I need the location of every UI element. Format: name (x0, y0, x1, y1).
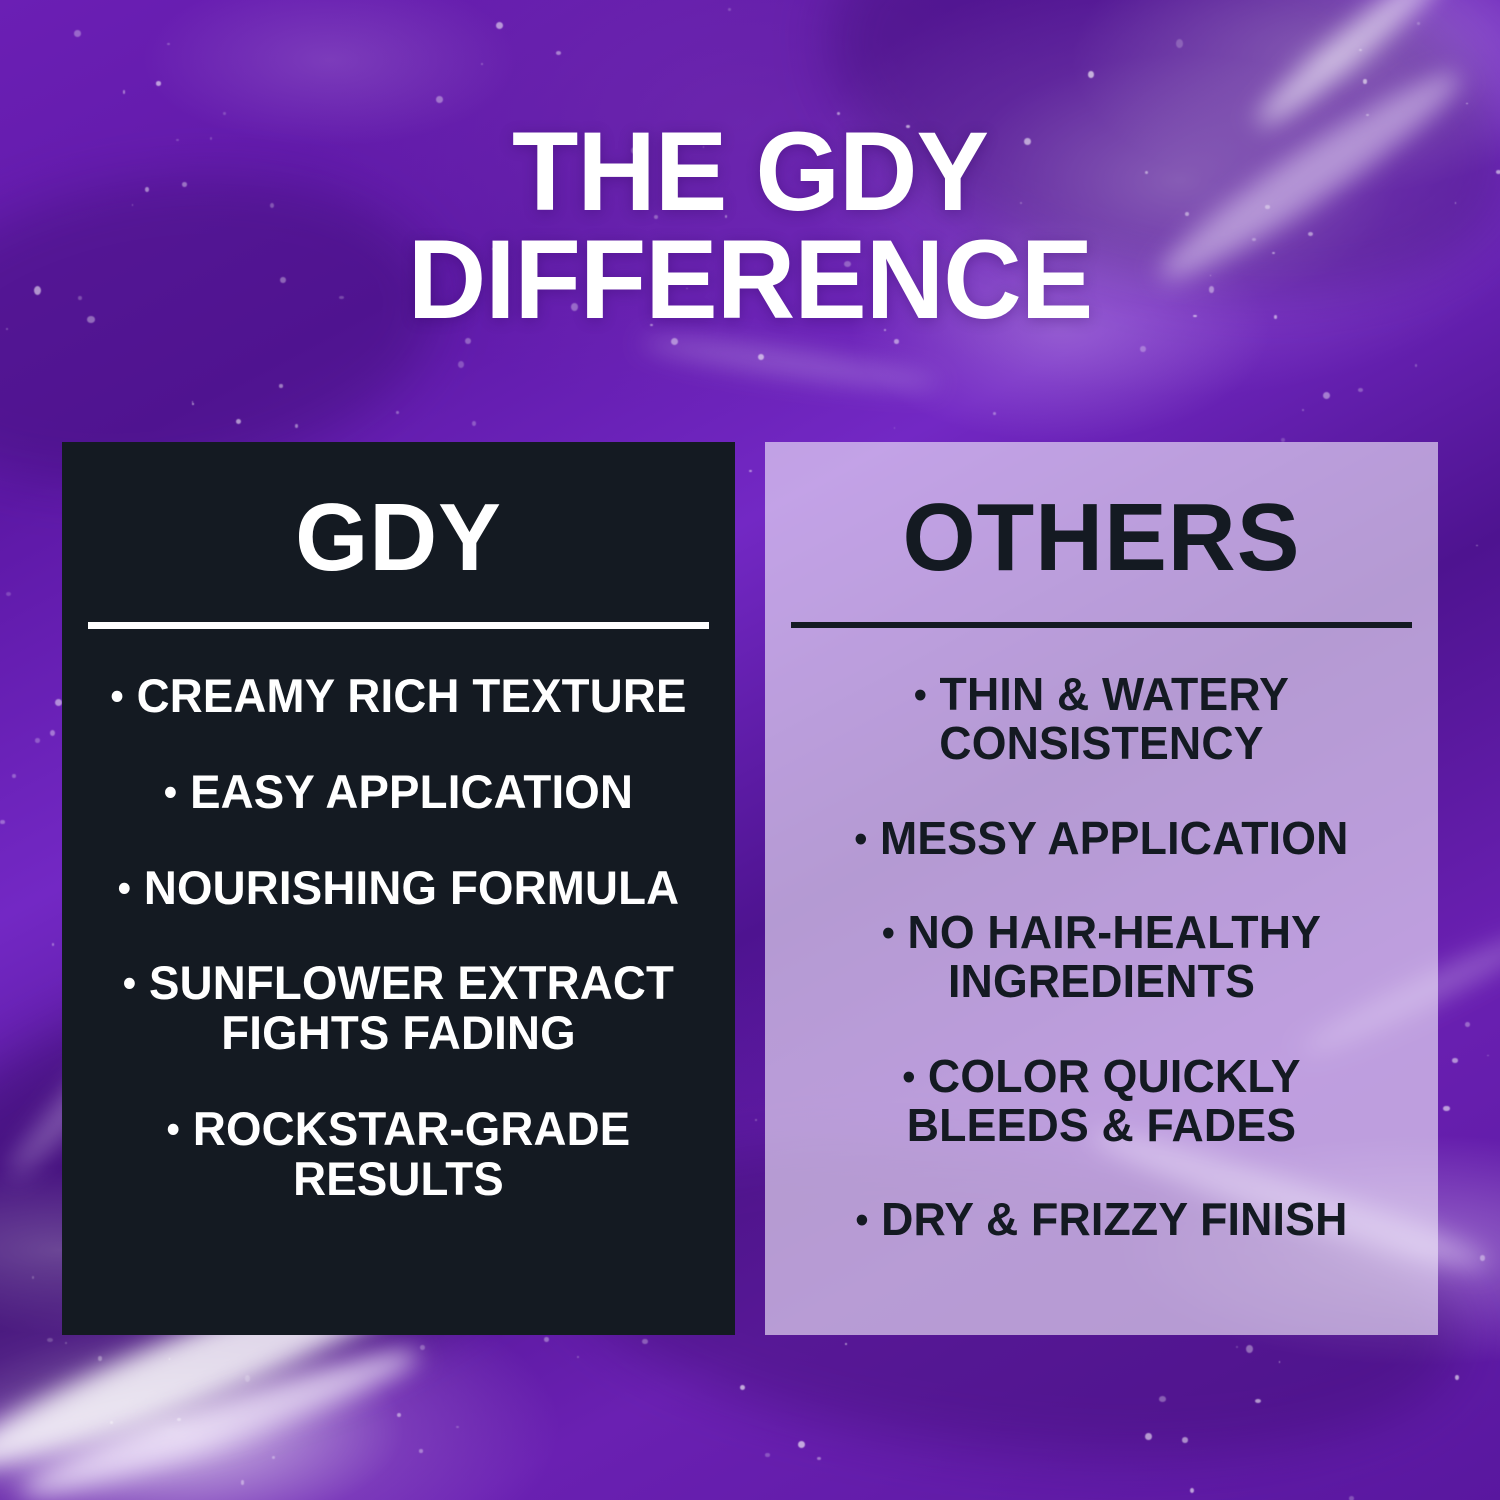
bullet-dot-icon: • (914, 673, 927, 715)
list-item: • NO HAIR-HEALTHY INGREDIENTS (806, 908, 1397, 1006)
panel-title-others: OTHERS (797, 442, 1406, 586)
panel-title-gdy: GDY (94, 442, 703, 586)
promo-graphic: THE GDY DIFFERENCE GDY • CREAMY RICH TEX… (0, 0, 1500, 1500)
list-item: • THIN & WATERY CONSISTENCY (806, 670, 1397, 768)
bullet-dot-icon: • (167, 1108, 180, 1151)
list-item: • NOURISHING FORMULA (103, 863, 694, 913)
list-item: • COLOR QUICKLY BLEEDS & FADES (806, 1052, 1397, 1150)
list-item: • EASY APPLICATION (103, 767, 694, 817)
bullet-dot-icon: • (855, 1199, 868, 1241)
list-item: • CREAMY RICH TEXTURE (103, 671, 694, 721)
bullet-dot-icon: • (118, 867, 131, 910)
bullet-dot-icon: • (854, 817, 867, 859)
comparison-panel-others: OTHERS • THIN & WATERY CONSISTENCY• MESS… (765, 442, 1438, 1335)
panel-divider-rule (88, 622, 709, 629)
benefit-list-gdy: • CREAMY RICH TEXTURE• EASY APPLICATION•… (88, 629, 709, 1204)
list-item: • MESSY APPLICATION (806, 814, 1397, 863)
list-item: • DRY & FRIZZY FINISH (806, 1195, 1397, 1244)
comparison-panel-gdy: GDY • CREAMY RICH TEXTURE• EASY APPLICAT… (62, 442, 735, 1335)
bullet-dot-icon: • (110, 675, 123, 718)
gloss-highlight (14, 1333, 426, 1500)
drawback-list-others: • THIN & WATERY CONSISTENCY• MESSY APPLI… (791, 628, 1412, 1244)
bullet-dot-icon: • (882, 912, 895, 954)
list-item: • SUNFLOWER EXTRACT FIGHTS FADING (103, 958, 694, 1058)
bullet-dot-icon: • (123, 963, 136, 1006)
bullet-dot-icon: • (902, 1055, 915, 1097)
bullet-dot-icon: • (164, 771, 177, 814)
list-item: • ROCKSTAR-GRADE RESULTS (103, 1104, 694, 1204)
page-title: THE GDY DIFFERENCE (23, 118, 1478, 333)
gloss-highlight (1247, 0, 1453, 137)
